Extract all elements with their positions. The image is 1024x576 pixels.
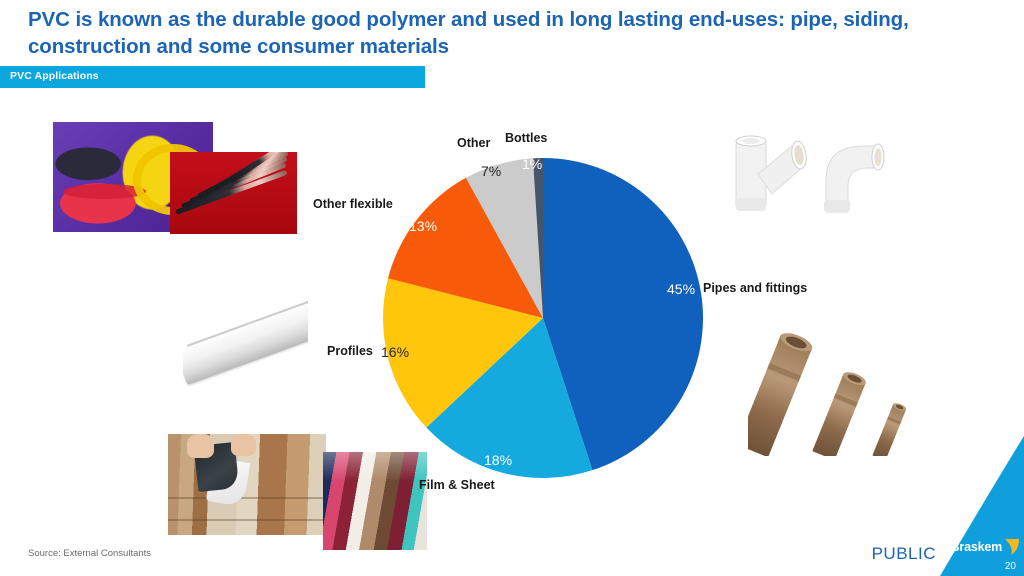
braskem-swoosh-icon bbox=[1004, 538, 1020, 556]
pvc-applications-pie-chart bbox=[0, 0, 1024, 576]
pie-percent-profiles: 16% bbox=[381, 344, 409, 360]
pie-percent-bottles: 1% bbox=[522, 156, 542, 172]
pie-svg bbox=[0, 0, 1024, 576]
pie-percent-other-flexible: 13% bbox=[409, 218, 437, 234]
pie-percent-film: 18% bbox=[484, 452, 512, 468]
classification-label: PUBLIC bbox=[872, 544, 936, 564]
pie-label-pipes: Pipes and fittings bbox=[703, 281, 807, 295]
pie-label-bottles: Bottles bbox=[505, 131, 547, 145]
source-note: Source: External Consultants bbox=[28, 548, 151, 559]
pie-label-other-flexible: Other flexible bbox=[313, 197, 393, 211]
pie-label-profiles: Profiles bbox=[327, 344, 373, 358]
page-number: 20 bbox=[1005, 561, 1016, 572]
pie-percent-other: 7% bbox=[481, 163, 501, 179]
pie-label-film: Film & Sheet bbox=[419, 478, 495, 492]
braskem-logo: Braskem bbox=[951, 538, 1020, 556]
braskem-wordmark: Braskem bbox=[951, 540, 1002, 554]
slide-canvas: PVC is known as the durable good polymer… bbox=[0, 0, 1024, 576]
pie-percent-pipes: 45% bbox=[667, 281, 695, 297]
pie-label-other: Other bbox=[457, 136, 490, 150]
